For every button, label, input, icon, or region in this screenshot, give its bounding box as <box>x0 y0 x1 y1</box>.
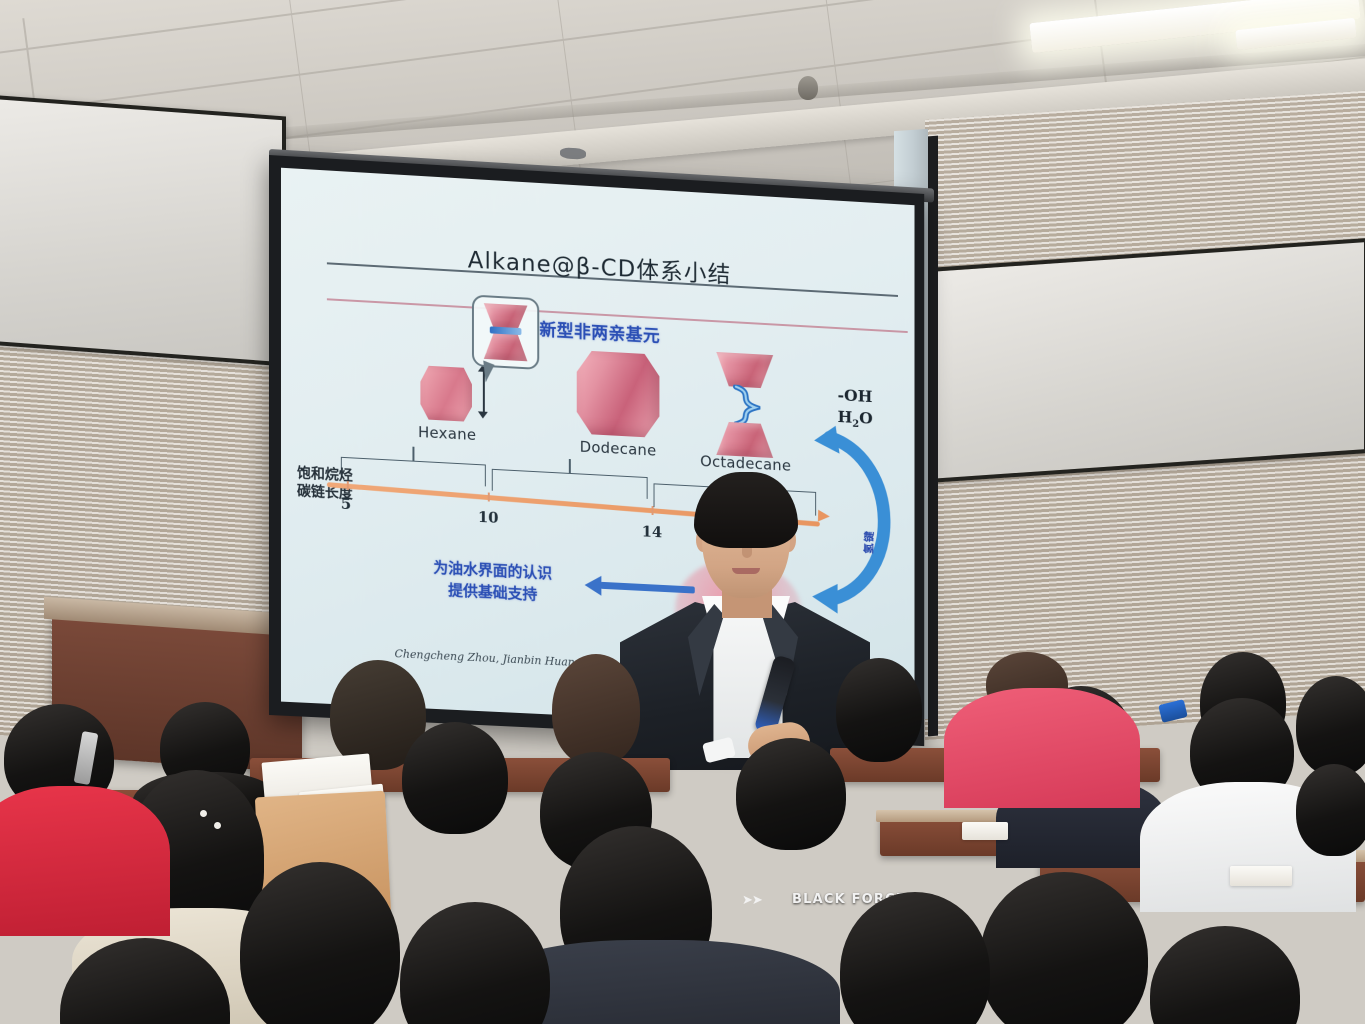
audience-head <box>836 658 922 762</box>
audience-area: ➤➤ BLACK FORCE <box>0 640 1365 1024</box>
axis-label-10: 10 <box>478 508 499 527</box>
axis-tick-5 <box>347 481 349 490</box>
audience-head <box>400 902 550 1024</box>
audience-head <box>552 654 640 766</box>
mobile-phone <box>1158 699 1188 723</box>
audience-head <box>402 722 508 834</box>
smoke-detector-icon <box>798 76 818 100</box>
audience-head <box>840 892 990 1024</box>
audience-head <box>1296 764 1365 856</box>
dodecane-barrel-icon <box>577 350 660 438</box>
conclusion-text: 为油水界面的认识 提供基础支持 <box>389 555 597 609</box>
molecule-label-hexane: Hexane <box>393 422 502 446</box>
paper-sheet <box>1230 866 1292 886</box>
presenter-hair <box>694 472 798 548</box>
audience-shoulders-red <box>0 786 170 936</box>
lecture-hall-photo: Alkane@β-CD体系小结 新型非两亲基元 Hexane <box>0 0 1365 1024</box>
audience-head <box>736 738 846 850</box>
axis-caption-line1: 饱和烷烃 <box>297 464 353 483</box>
audience-head <box>1296 676 1365 776</box>
hexane-barrel-icon <box>420 365 472 422</box>
conclusion-line1: 为油水界面的认识 <box>433 559 552 582</box>
axis-label-5: 5 <box>341 495 351 514</box>
bracket-tick-dodecane <box>569 459 571 474</box>
hair-clip <box>214 822 221 829</box>
audience-shoulders-pink <box>944 688 1140 808</box>
molecule-label-dodecane: Dodecane <box>553 436 683 461</box>
axis-tick-10 <box>488 492 490 501</box>
bracket-tick-hexane <box>412 447 414 462</box>
right-whiteboard <box>928 238 1365 483</box>
audience-head <box>1150 926 1300 1024</box>
left-whiteboard <box>0 95 286 366</box>
octadecane-cone-top-icon <box>716 352 773 389</box>
slide-title: Alkane@β-CD体系小结 <box>281 230 915 300</box>
jacket-wing-logo-icon: ➤➤ <box>742 892 762 908</box>
conclusion-line2: 提供基础支持 <box>448 582 537 603</box>
paper-sheet <box>962 822 1008 840</box>
hydroxyl-note: -OH <box>838 384 873 407</box>
presenter-mouth <box>732 568 760 574</box>
hair-clip <box>200 810 207 817</box>
